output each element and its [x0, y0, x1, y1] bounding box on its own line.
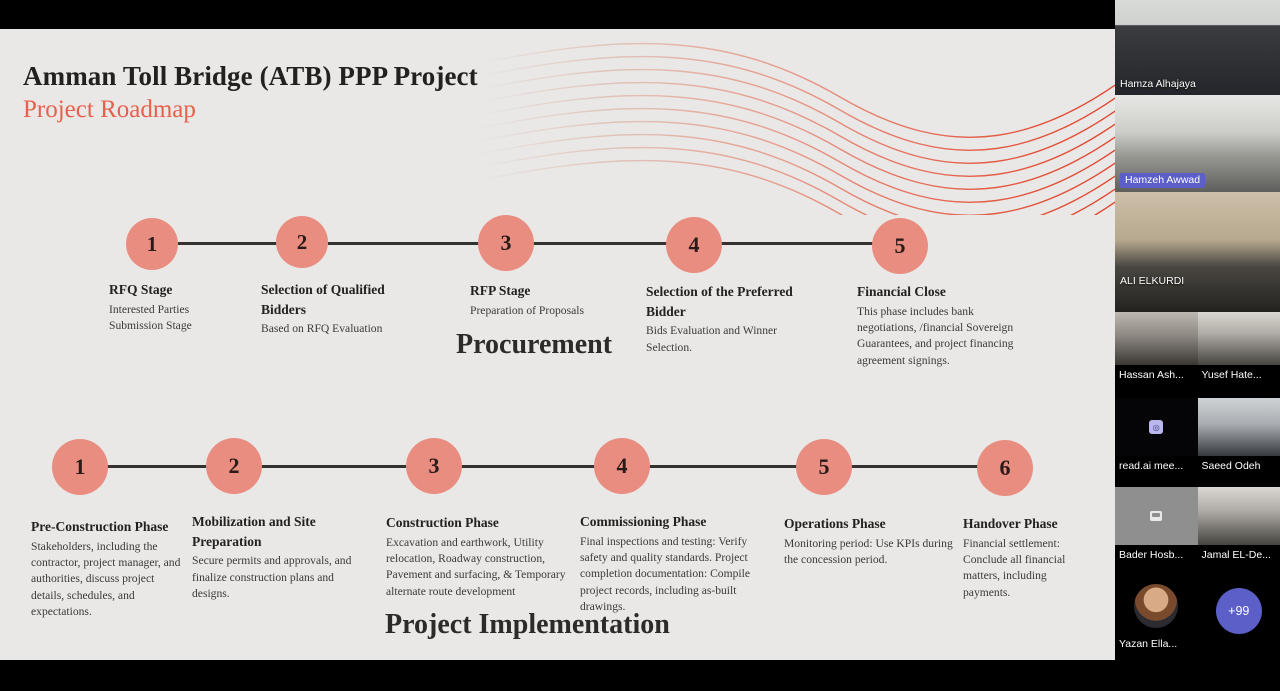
participant-name: Yusef Hate... — [1198, 365, 1280, 386]
step-title: Operations Phase — [784, 514, 964, 534]
participant-tile-bader-hosb[interactable]: Bader Hosb... — [1115, 487, 1198, 566]
section-heading-implementation: Project Implementation — [385, 609, 670, 641]
participant-tile-ali-elkurdi[interactable]: ALI ELKURDI — [1115, 192, 1280, 312]
step-title: Financial Close — [857, 282, 1032, 302]
participant-tile-yazan-ella[interactable]: Yazan Ella... — [1115, 574, 1198, 655]
step-description: Monitoring period: Use KPIs during the c… — [784, 536, 964, 569]
participant-tile-pair: Hassan Ash... Yusef Hate... — [1115, 312, 1280, 386]
participant-tile-pair: Yazan Ella... +99 — [1115, 574, 1280, 655]
procurement-timeline: 1 2 3 4 5 RFQ Stage Interested Parties S… — [0, 187, 1115, 317]
video-feed — [1115, 192, 1280, 312]
step-title: Commissioning Phase — [580, 512, 772, 532]
camera-off-icon — [1150, 511, 1162, 521]
step-description: Financial settlement: Conclude all finan… — [963, 536, 1085, 602]
timeline-connector — [643, 465, 803, 468]
participant-tile-hassan-ash[interactable]: Hassan Ash... — [1115, 312, 1198, 386]
participant-name: ALI ELKURDI — [1120, 275, 1184, 288]
timeline-step-1: RFQ Stage Interested Parties Submission … — [109, 280, 239, 334]
participant-tile-pair: Bader Hosb... Jamal EL-De... — [1115, 487, 1280, 566]
participant-tile-hamzeh-awwad[interactable]: Hamzeh Awwad — [1115, 95, 1280, 192]
video-feed: ◎ — [1115, 398, 1198, 456]
step-title: Mobilization and Site Preparation — [192, 512, 367, 551]
step-description: Interested Parties Submission Stage — [109, 302, 239, 335]
step-description: Based on RFQ Evaluation — [261, 321, 421, 337]
timeline-node-4[interactable]: 4 — [594, 438, 650, 494]
timeline-connector — [532, 242, 672, 245]
participant-tile-jamal-el-de[interactable]: Jamal EL-De... — [1198, 487, 1280, 566]
timeline-connector — [106, 465, 212, 468]
timeline-node-2[interactable]: 2 — [206, 438, 262, 494]
participant-name: Hassan Ash... — [1115, 365, 1198, 386]
step-description: This phase includes bank negotiations, /… — [857, 304, 1032, 370]
participant-name: Hamza Alhajaya — [1120, 78, 1196, 91]
timeline-step-4: Commissioning Phase Final inspections an… — [580, 512, 772, 616]
timeline-node-1[interactable]: 1 — [52, 439, 108, 495]
participant-overflow-tile[interactable]: +99 — [1198, 574, 1280, 655]
timeline-connector — [721, 242, 873, 245]
participant-name: read.ai mee... — [1115, 456, 1198, 477]
timeline-step-2: Selection of Qualified Bidders Based on … — [261, 280, 421, 338]
video-feed — [1198, 312, 1280, 365]
timeline-step-3: Construction Phase Excavation and earthw… — [386, 513, 566, 600]
step-description: Preparation of Proposals — [470, 303, 590, 319]
step-title: Construction Phase — [386, 513, 566, 533]
timeline-step-3: RFP Stage Preparation of Proposals — [470, 281, 590, 319]
timeline-node-6[interactable]: 6 — [977, 440, 1033, 496]
step-title: RFP Stage — [470, 281, 590, 301]
overflow-count-badge[interactable]: +99 — [1216, 588, 1262, 634]
participant-tile-saeed-odeh[interactable]: Saeed Odeh — [1198, 398, 1280, 477]
participant-rail[interactable]: Hamza Alhajaya Hamzeh Awwad ALI ELKURDI … — [1115, 0, 1280, 691]
participant-tile-yusef-hate[interactable]: Yusef Hate... — [1198, 312, 1280, 386]
participant-name: Yazan Ella... — [1115, 634, 1198, 655]
step-description: Final inspections and testing: Verify sa… — [580, 534, 772, 616]
video-feed — [1198, 398, 1280, 456]
avatar — [1134, 584, 1178, 628]
timeline-node-5[interactable]: 5 — [872, 218, 928, 274]
timeline-connector — [845, 465, 985, 468]
video-feed — [1198, 487, 1280, 545]
step-title: Handover Phase — [963, 514, 1085, 534]
participant-tile-pair: ◎ read.ai mee... Saeed Odeh — [1115, 398, 1280, 477]
timeline-node-2[interactable]: 2 — [276, 216, 328, 268]
video-feed — [1115, 312, 1198, 365]
page-title: Amman Toll Bridge (ATB) PPP Project — [23, 61, 478, 92]
section-heading-procurement: Procurement — [456, 329, 612, 361]
timeline-node-3[interactable]: 3 — [406, 438, 462, 494]
meeting-screen-share-view: Amman Toll Bridge (ATB) PPP Project Proj… — [0, 0, 1280, 691]
presentation-slide: Amman Toll Bridge (ATB) PPP Project Proj… — [0, 29, 1115, 660]
timeline-node-1[interactable]: 1 — [126, 218, 178, 270]
timeline-step-6: Handover Phase Financial settlement: Con… — [963, 514, 1085, 601]
step-title: Selection of the Preferred Bidder — [646, 282, 801, 321]
timeline-step-5: Financial Close This phase includes bank… — [857, 282, 1032, 369]
timeline-node-3[interactable]: 3 — [478, 215, 534, 271]
participant-tile-hamza-alhajaya[interactable]: Hamza Alhajaya — [1115, 0, 1280, 95]
participant-name: Saeed Odeh — [1198, 456, 1280, 477]
timeline-step-1: Pre-Construction Phase Stakeholders, inc… — [31, 517, 183, 621]
timeline-connector — [255, 465, 413, 468]
step-description: Excavation and earthwork, Utility reloca… — [386, 535, 566, 601]
video-placeholder — [1115, 487, 1198, 545]
timeline-node-5[interactable]: 5 — [796, 439, 852, 495]
timeline-step-5: Operations Phase Monitoring period: Use … — [784, 514, 964, 568]
timeline-node-4[interactable]: 4 — [666, 217, 722, 273]
page-subtitle: Project Roadmap — [23, 96, 196, 124]
step-description: Secure permits and approvals, and finali… — [192, 553, 367, 602]
participant-name: Bader Hosb... — [1115, 545, 1198, 566]
participant-tile-read-ai[interactable]: ◎ read.ai mee... — [1115, 398, 1198, 477]
step-description: Bids Evaluation and Winner Selection. — [646, 323, 801, 356]
step-title: Pre-Construction Phase — [31, 517, 183, 537]
timeline-step-2: Mobilization and Site Preparation Secure… — [192, 512, 367, 602]
shared-content-stage[interactable]: Amman Toll Bridge (ATB) PPP Project Proj… — [0, 0, 1115, 691]
timeline-connector — [328, 242, 483, 245]
read-ai-icon: ◎ — [1149, 420, 1163, 434]
participant-name: Jamal EL-De... — [1198, 545, 1280, 566]
implementation-timeline: 1 2 3 4 5 6 Pre-Construction Phase Stake… — [0, 409, 1115, 604]
step-description: Stakeholders, including the contractor, … — [31, 539, 183, 621]
participant-name: Hamzeh Awwad — [1120, 173, 1205, 188]
step-title: Selection of Qualified Bidders — [261, 280, 421, 319]
step-title: RFQ Stage — [109, 280, 239, 300]
timeline-step-4: Selection of the Preferred Bidder Bids E… — [646, 282, 801, 356]
timeline-connector — [455, 465, 601, 468]
video-placeholder — [1115, 574, 1198, 634]
